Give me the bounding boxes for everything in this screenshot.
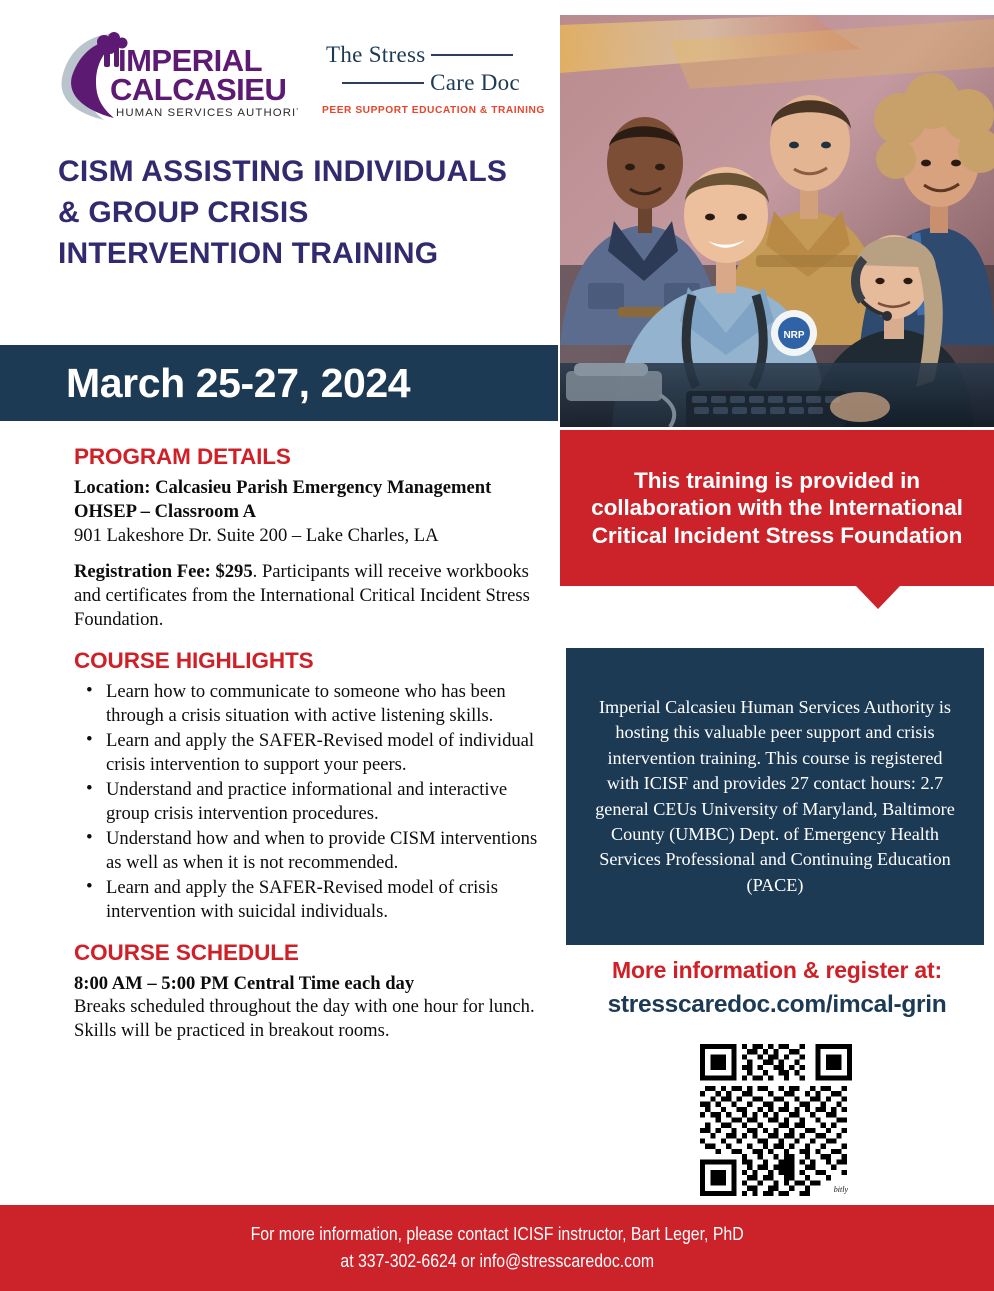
course-schedule-heading: COURSE SCHEDULE [74,940,538,966]
schedule-paragraph: 8:00 AM – 5:00 PM Central Time each day … [74,972,538,1043]
stress-care-doc-logo: The Stress Care Doc PEER SUPPORT EDUCATI… [322,42,522,122]
register-url[interactable]: stresscaredoc.com/imcal-grin [560,991,994,1019]
program-details-body: Location: Calcasieu Parish Emergency Man… [74,476,538,632]
scd-line1-row: The Stress [322,42,522,68]
collaboration-banner: This training is provided in collaborati… [560,430,994,586]
list-item: Learn and apply the SAFER-Revised model … [74,876,538,924]
left-content-column: PROGRAM DETAILS Location: Calcasieu Pari… [74,444,538,1056]
schedule-hours: 8:00 AM – 5:00 PM Central Time each day [74,973,414,994]
page-title: CISM ASSISTING INDIVIDUALS & GROUP CRISI… [58,152,528,274]
keyboard [686,391,846,427]
scd-line2: Care Doc [430,70,520,96]
course-schedule-body: 8:00 AM – 5:00 PM Central Time each day … [74,972,538,1043]
logo-row: IMPERIAL CALCASIEU HUMAN SERVICES AUTHOR… [0,0,560,140]
list-item: Learn and apply the SAFER-Revised model … [74,729,538,777]
qr-watermark: bitly [834,1185,848,1194]
scd-tagline: PEER SUPPORT EDUCATION & TRAINING [322,105,522,116]
photo-illustration: NRP [560,15,994,427]
course-highlights-heading: COURSE HIGHLIGHTS [74,648,538,674]
list-item: Understand how and when to provide CISM … [74,827,538,875]
svg-text:HUMAN SERVICES AUTHORITY: HUMAN SERVICES AUTHORITY [116,107,298,119]
date-text: March 25-27, 2024 [0,360,410,407]
host-note-box: Imperial Calcasieu Human Services Author… [566,648,984,945]
scd-rule-bottom [342,82,424,84]
address-line: 901 Lakeshore Dr. Suite 200 – Lake Charl… [74,525,439,546]
svg-text:CALCASIEU: CALCASIEU [110,72,286,107]
list-item: Understand and practice informational an… [74,778,538,826]
location-label: Location [74,477,144,498]
scd-line2-row: Care Doc [322,70,522,96]
program-details-heading: PROGRAM DETAILS [74,444,538,470]
imperial-calcasieu-mark: IMPERIAL CALCASIEU HUMAN SERVICES AUTHOR… [58,28,298,128]
scd-rule-top [431,54,513,56]
footer-contact-bar: For more information, please contact ICI… [0,1205,994,1291]
first-responders-photo: NRP [560,15,994,427]
course-highlights-list: Learn how to communicate to someone who … [74,680,538,924]
collaboration-banner-tail [856,586,900,609]
list-item: Learn how to communicate to someone who … [74,680,538,728]
imperial-calcasieu-logo: IMPERIAL CALCASIEU HUMAN SERVICES AUTHOR… [58,28,298,128]
register-heading: More information & register at: [560,957,994,984]
footer-line-1: For more information, please contact ICI… [250,1221,743,1248]
fee-label: Registration Fee: $295 [74,561,253,582]
qr-code[interactable]: bitly [700,1044,852,1196]
schedule-note: Breaks scheduled throughout the day with… [74,996,535,1041]
scd-line1: The Stress [326,42,425,68]
flyer-page: IMPERIAL CALCASIEU HUMAN SERVICES AUTHOR… [0,0,994,1291]
location-paragraph: Location: Calcasieu Parish Emergency Man… [74,476,538,547]
register-block: More information & register at: stressca… [560,957,994,1019]
footer-line-2: at 337-302-6624 or info@stresscaredoc.co… [340,1248,654,1275]
host-note-text: Imperial Calcasieu Human Services Author… [566,695,984,899]
collaboration-text: This training is provided in collaborati… [560,467,994,549]
date-banner: March 25-27, 2024 [0,345,558,421]
qr-code-image[interactable] [700,1044,852,1196]
svg-text:NRP: NRP [783,330,804,341]
fee-paragraph: Registration Fee: $295. Participants wil… [74,560,538,631]
